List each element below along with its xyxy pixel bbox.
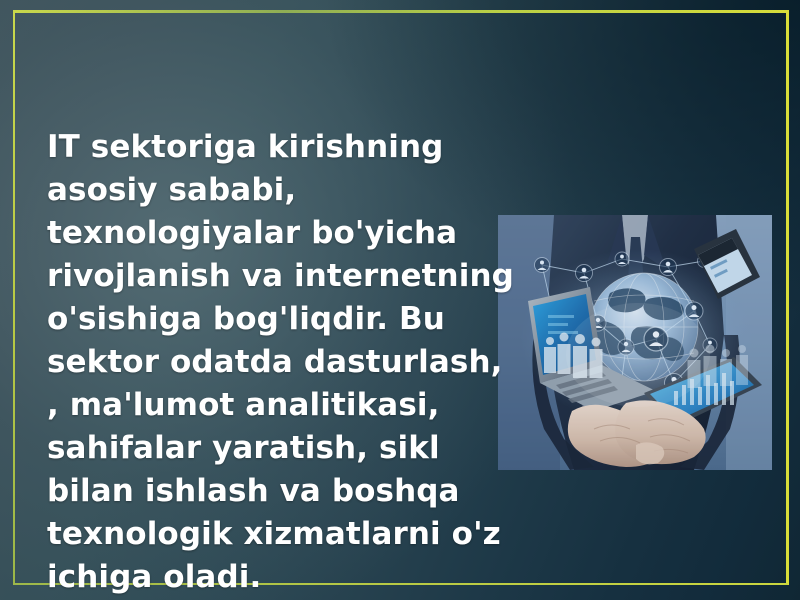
slide-body-text: IT sektoriga kirishning asosiy sababi, t… <box>47 126 517 599</box>
frame-right-edge <box>786 10 789 585</box>
presentation-slide: IT sektoriga kirishning asosiy sababi, t… <box>0 0 800 600</box>
technology-network-illustration <box>498 215 772 470</box>
slide-image <box>498 215 772 470</box>
frame-top-edge <box>13 10 788 13</box>
frame-left-edge <box>13 10 15 585</box>
